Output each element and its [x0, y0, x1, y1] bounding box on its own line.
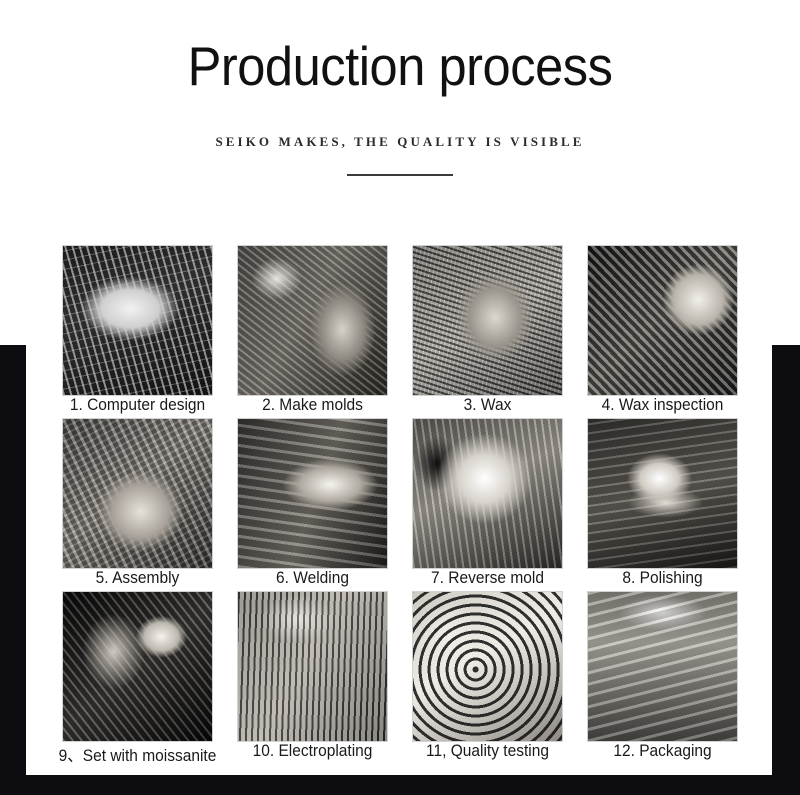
step-caption: 7. Reverse mold [405, 569, 570, 588]
welding-photo[interactable] [238, 419, 387, 568]
step-caption: 2. Make molds [230, 396, 395, 415]
title-divider [347, 174, 453, 176]
step-caption: 9、Set with moissanite [55, 742, 220, 766]
packaging-photo[interactable] [588, 592, 737, 741]
right-edge-bar [772, 345, 800, 777]
make-molds-photo[interactable] [238, 246, 387, 395]
step-cell[interactable]: 11, Quality testing [400, 592, 575, 765]
step-cell[interactable]: 7. Reverse mold [400, 419, 575, 592]
page-title: Production process [32, 0, 768, 98]
photo-texture [413, 246, 562, 395]
photo-texture [588, 246, 737, 395]
wax-inspection-photo[interactable] [588, 246, 737, 395]
header: Production process SEIKO MAKES, THE QUAL… [0, 0, 800, 176]
wax-photo[interactable] [413, 246, 562, 395]
polishing-photo[interactable] [588, 419, 737, 568]
step-caption: 8. Polishing [580, 569, 745, 588]
step-cell[interactable]: 1. Computer design [50, 246, 225, 419]
step-cell[interactable]: 5. Assembly [50, 419, 225, 592]
bottom-edge-bar [0, 775, 800, 795]
left-edge-bar [0, 345, 26, 777]
quality-testing-photo[interactable] [413, 592, 562, 741]
step-caption: 11, Quality testing [405, 742, 570, 761]
computer-design-photo[interactable] [63, 246, 212, 395]
step-caption: 6. Welding [230, 569, 395, 588]
set-with-moissanite-photo[interactable] [63, 592, 212, 741]
production-process-infographic: Production process SEIKO MAKES, THE QUAL… [0, 0, 800, 795]
photo-texture [588, 419, 737, 568]
step-cell[interactable]: 10. Electroplating [225, 592, 400, 765]
photo-texture [63, 246, 212, 395]
step-caption: 3. Wax [405, 396, 570, 415]
step-cell[interactable]: 6. Welding [225, 419, 400, 592]
step-cell[interactable]: 9、Set with moissanite [50, 592, 225, 765]
photo-texture [238, 592, 387, 741]
step-caption: 10. Electroplating [230, 742, 395, 761]
step-cell[interactable]: 4. Wax inspection [575, 246, 750, 419]
steps-grid: 1. Computer design2. Make molds3. Wax4. … [50, 246, 750, 765]
photo-texture [63, 419, 212, 568]
reverse-mold-photo[interactable] [413, 419, 562, 568]
assembly-photo[interactable] [63, 419, 212, 568]
step-caption: 12. Packaging [580, 742, 745, 761]
step-cell[interactable]: 8. Polishing [575, 419, 750, 592]
electroplating-photo[interactable] [238, 592, 387, 741]
page-subtitle: SEIKO MAKES, THE QUALITY IS VISIBLE [0, 98, 800, 150]
photo-texture [413, 592, 562, 741]
step-caption: 1. Computer design [55, 396, 220, 415]
step-cell[interactable]: 2. Make molds [225, 246, 400, 419]
photo-texture [238, 246, 387, 395]
photo-texture [238, 419, 387, 568]
step-caption: 5. Assembly [55, 569, 220, 588]
photo-texture [413, 419, 562, 568]
photo-texture [588, 592, 737, 741]
step-cell[interactable]: 3. Wax [400, 246, 575, 419]
step-caption: 4. Wax inspection [580, 396, 745, 415]
photo-texture [63, 592, 212, 741]
step-cell[interactable]: 12. Packaging [575, 592, 750, 765]
